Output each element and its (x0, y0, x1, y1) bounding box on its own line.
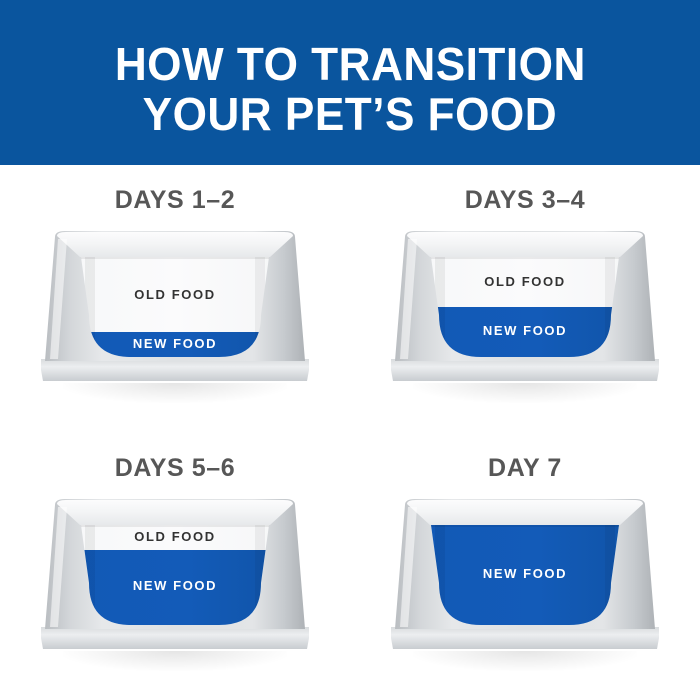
step-panel-day-7: DAY 7 (350, 433, 700, 700)
rim-shadow (431, 257, 619, 259)
food-bowl: OLD FOOD NEW FOOD (41, 489, 309, 659)
bowl-graphic (391, 489, 659, 659)
step-title: DAYS 5–6 (115, 453, 236, 483)
rim-shadow (431, 525, 619, 527)
bowl-base (41, 359, 309, 381)
food-bowl: NEW FOOD (391, 489, 659, 659)
food-bowl: OLD FOOD NEW FOOD (391, 221, 659, 391)
header-title-line-1: HOW TO TRANSITION (115, 39, 586, 89)
rim-shadow (81, 257, 269, 259)
infographic-root: HOW TO TRANSITION YOUR PET’S FOOD DAYS 1… (0, 0, 700, 700)
rim-shadow (81, 525, 269, 527)
step-panel-days-1-2: DAYS 1–2 (0, 165, 350, 433)
header-banner: HOW TO TRANSITION YOUR PET’S FOOD (0, 0, 700, 165)
bowl-base (391, 627, 659, 649)
bowl-graphic (391, 221, 659, 391)
step-panel-days-5-6: DAYS 5–6 (0, 433, 350, 700)
bowl-rim (407, 500, 643, 525)
step-panel-days-3-4: DAYS 3–4 (350, 165, 700, 433)
header-title-line-2: YOUR PET’S FOOD (143, 89, 557, 139)
bowl-base (391, 359, 659, 381)
bowl-base (41, 627, 309, 649)
bowl-rim (57, 500, 293, 525)
bowl-rim (407, 232, 643, 257)
bowl-graphic (41, 221, 309, 391)
food-bowl: OLD FOOD NEW FOOD (41, 221, 309, 391)
step-title: DAYS 3–4 (465, 185, 586, 215)
step-title: DAY 7 (488, 453, 562, 483)
bowl-rim (57, 232, 293, 257)
step-title: DAYS 1–2 (115, 185, 236, 215)
bowl-graphic (41, 489, 309, 659)
steps-grid: DAYS 1–2 (0, 165, 700, 700)
